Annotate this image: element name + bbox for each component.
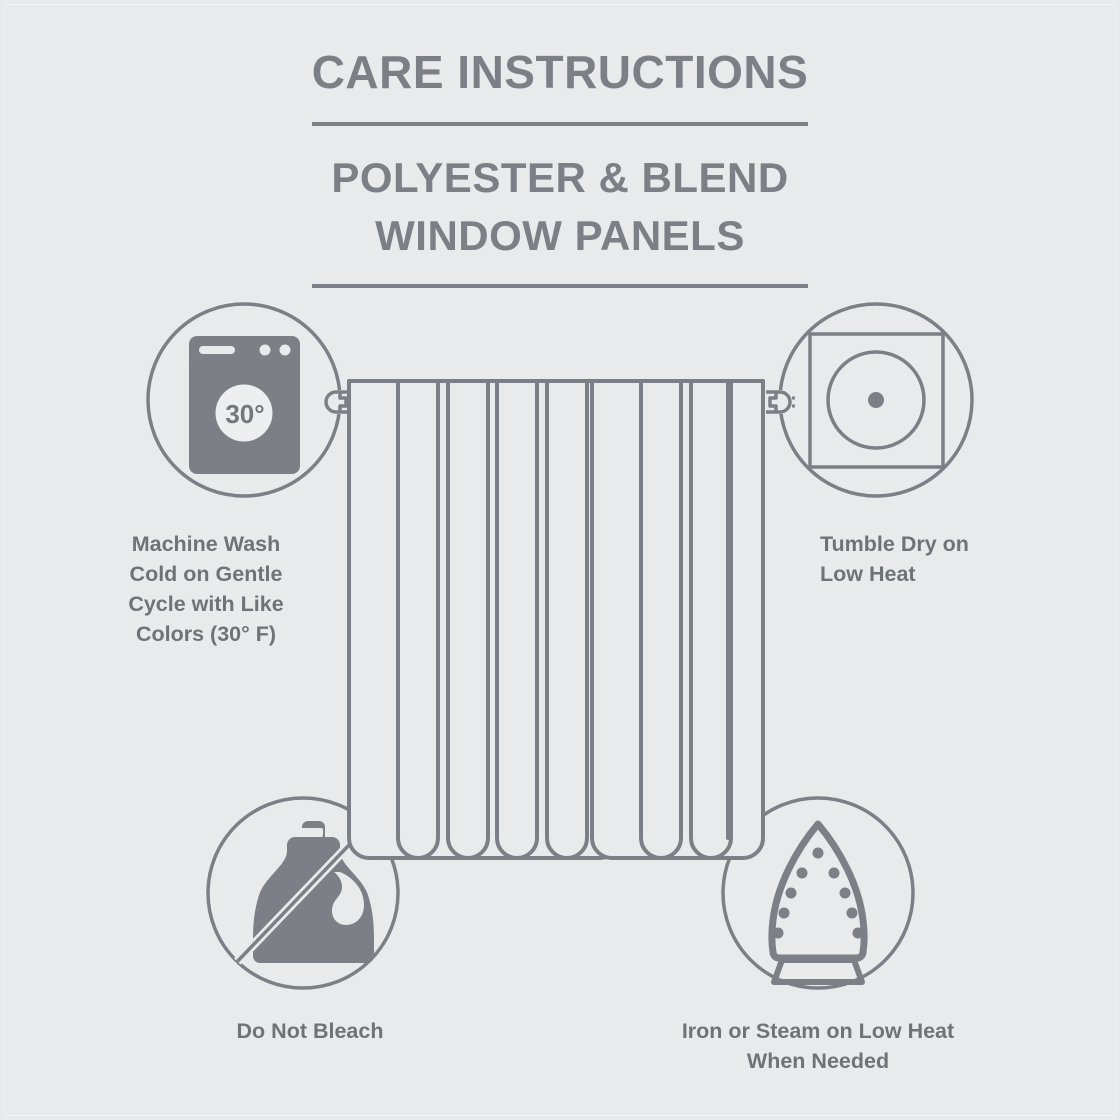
caption-iron: Iron or Steam on Low Heat When Needed: [682, 1019, 954, 1073]
subtitle-line-1: POLYESTER & BLEND: [331, 154, 788, 201]
caption-machine-wash: Machine Wash Cold on Gentle Cycle with L…: [128, 532, 283, 646]
washer-knob-2: [280, 345, 291, 356]
caption-line: Machine Wash: [132, 532, 281, 556]
iron-icon: [772, 824, 864, 982]
caption-line: Cold on Gentle: [130, 562, 283, 586]
iron-soleplate: [772, 824, 864, 958]
page-title: CARE INSTRUCTIONS: [312, 46, 809, 98]
curtain-panel-right: [592, 381, 763, 858]
dryer-heat-dot: [868, 392, 884, 408]
caption-line: Low Heat: [820, 562, 916, 586]
subtitle-line-2: WINDOW PANELS: [375, 212, 745, 259]
curtain-panel-left: [349, 381, 620, 858]
washer-slot: [199, 346, 235, 354]
caption-line: When Needed: [747, 1049, 889, 1073]
wash-temperature-badge: 30°: [225, 399, 264, 429]
header-block: CARE INSTRUCTIONS POLYESTER & BLEND WIND…: [312, 46, 809, 286]
care-instructions-artwork: CARE INSTRUCTIONS POLYESTER & BLEND WIND…: [0, 0, 1120, 1120]
washing-machine-icon: 30°: [189, 336, 300, 474]
caption-line: Do Not Bleach: [237, 1019, 384, 1043]
tumble-dry-icon: [810, 334, 943, 467]
caption-tumble-dry: Tumble Dry on Low Heat: [820, 532, 969, 586]
iron-steam-dots: [773, 848, 864, 939]
caption-line: Tumble Dry on: [820, 532, 969, 556]
iron-base: [774, 960, 862, 982]
curtain-window-panels: [324, 381, 798, 858]
caption-line: Colors (30° F): [136, 622, 276, 646]
caption-line: Iron or Steam on Low Heat: [682, 1019, 954, 1043]
caption-do-not-bleach: Do Not Bleach: [237, 1019, 384, 1043]
care-instructions-card: CARE INSTRUCTIONS POLYESTER & BLEND WIND…: [0, 0, 1120, 1120]
bleach-bottle-cap-hole: [297, 828, 323, 837]
rod-finial-right: [762, 390, 792, 414]
washer-knob-1: [260, 345, 271, 356]
caption-line: Cycle with Like: [128, 592, 283, 616]
